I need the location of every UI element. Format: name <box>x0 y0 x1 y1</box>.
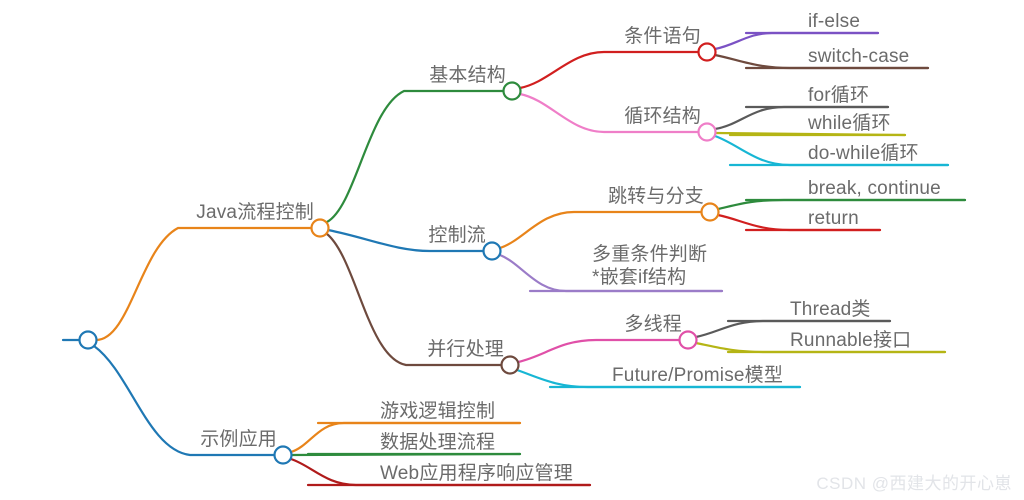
leaf-label-data-processing-flow[interactable]: 数据处理流程 <box>380 432 495 454</box>
mindmap-edge <box>327 91 504 222</box>
watermark: CSDN @西建大的开心崽 <box>816 469 1012 494</box>
leaf-label-for-loop[interactable]: for循环 <box>808 85 869 107</box>
leaf-label-game-logic-control[interactable]: 游戏逻辑控制 <box>380 401 495 423</box>
mindmap-edge <box>520 52 699 88</box>
node-label-control-flow[interactable]: 控制流 <box>428 225 486 247</box>
node-label-multithreading[interactable]: 多线程 <box>624 314 682 336</box>
node-label-example-applications[interactable]: 示例应用 <box>200 429 277 451</box>
leaf-label-return[interactable]: return <box>808 208 859 230</box>
leaf-label-future-promise-model[interactable]: Future/Promise模型 <box>612 365 783 387</box>
node-label-java-flow-control[interactable]: Java流程控制 <box>196 202 314 224</box>
mindmap-edge <box>96 228 312 340</box>
leaf-label-switch-case[interactable]: switch-case <box>808 46 909 68</box>
mindmap-edge <box>518 340 680 362</box>
mindmap-canvas: if-elseswitch-casefor循环while循环do-while循环… <box>0 0 1024 500</box>
leaf-label-if-else[interactable]: if-else <box>808 11 860 33</box>
leaf-label-thread-class[interactable]: Thread类 <box>790 299 871 321</box>
node-label-conditional-statements[interactable]: 条件语句 <box>624 26 701 48</box>
node-circle-root[interactable] <box>80 332 97 349</box>
leaf-label-web-app-response-management[interactable]: Web应用程序响应管理 <box>380 463 573 485</box>
node-circle-jump-and-branch[interactable] <box>702 204 719 221</box>
node-label-jump-and-branch[interactable]: 跳转与分支 <box>608 186 704 208</box>
leaf-label-multi-condition-nested-if[interactable]: 多重条件判断 *嵌套if结构 <box>592 243 707 289</box>
leaf-label-break-continue[interactable]: break, continue <box>808 178 941 200</box>
node-label-loop-structures[interactable]: 循环结构 <box>624 106 701 128</box>
leaf-label-do-while-loop[interactable]: do-while循环 <box>808 143 919 165</box>
node-label-parallel-processing[interactable]: 并行处理 <box>427 339 504 361</box>
node-label-basic-structure[interactable]: 基本结构 <box>429 65 506 87</box>
leaf-label-runnable-interface[interactable]: Runnable接口 <box>790 330 911 352</box>
mindmap-connections-layer <box>0 0 1024 500</box>
leaf-label-while-loop[interactable]: while循环 <box>808 113 891 135</box>
